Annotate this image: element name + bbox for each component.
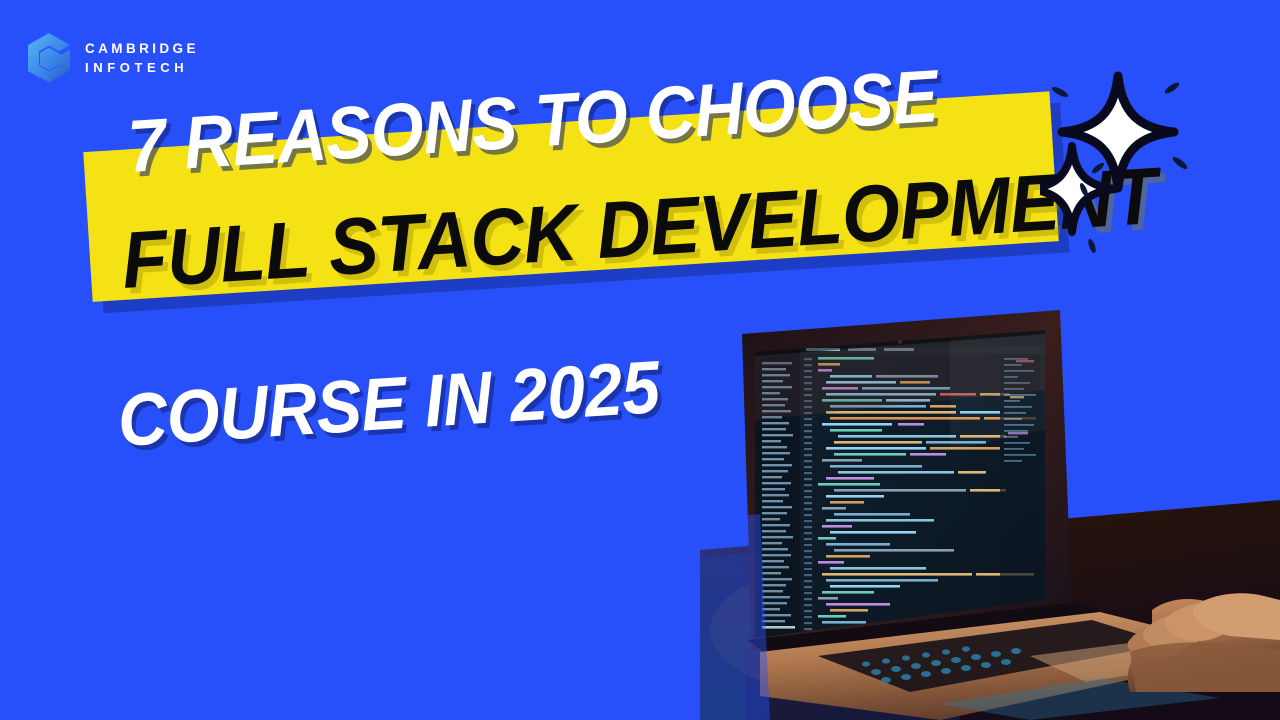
sparkle-decoration	[1040, 68, 1225, 268]
brand-name: CAMBRIDGE INFOTECH	[85, 42, 199, 75]
laptop-photo	[700, 300, 1280, 720]
brand-logo: CAMBRIDGE INFOTECH	[26, 32, 199, 84]
brand-name-line2: INFOTECH	[85, 61, 199, 74]
headline-line-3: COURSE IN 2025	[115, 344, 661, 463]
cambridge-hexagon-c-logo-icon	[26, 32, 72, 84]
brand-name-line1: CAMBRIDGE	[85, 42, 199, 56]
thumbnail-canvas: CAMBRIDGE INFOTECH	[0, 0, 1280, 720]
laptop-photo-illustration	[700, 300, 1280, 720]
four-point-sparkle-icon	[1040, 68, 1225, 268]
